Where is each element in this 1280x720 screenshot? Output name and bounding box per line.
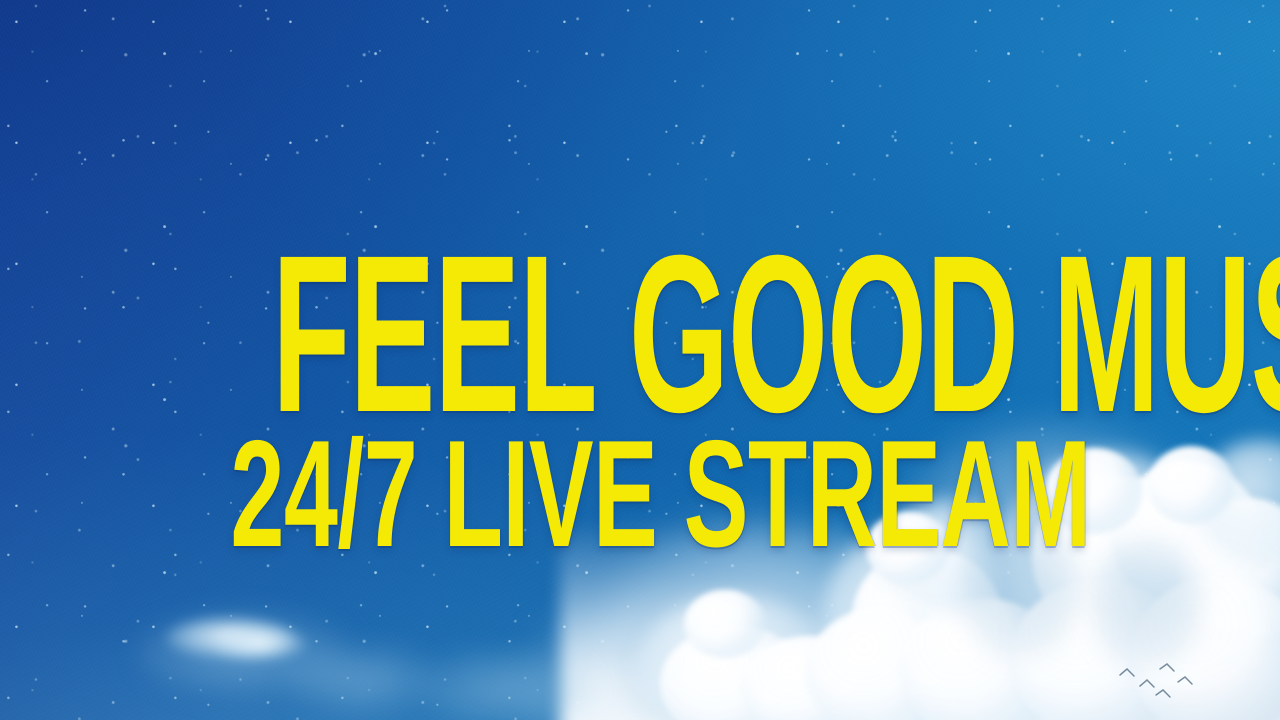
film-grain-overlay [0, 0, 1280, 720]
video-thumbnail: FEEL GOOD MUSIC 24/7 LIVE STREAM [0, 0, 1280, 720]
